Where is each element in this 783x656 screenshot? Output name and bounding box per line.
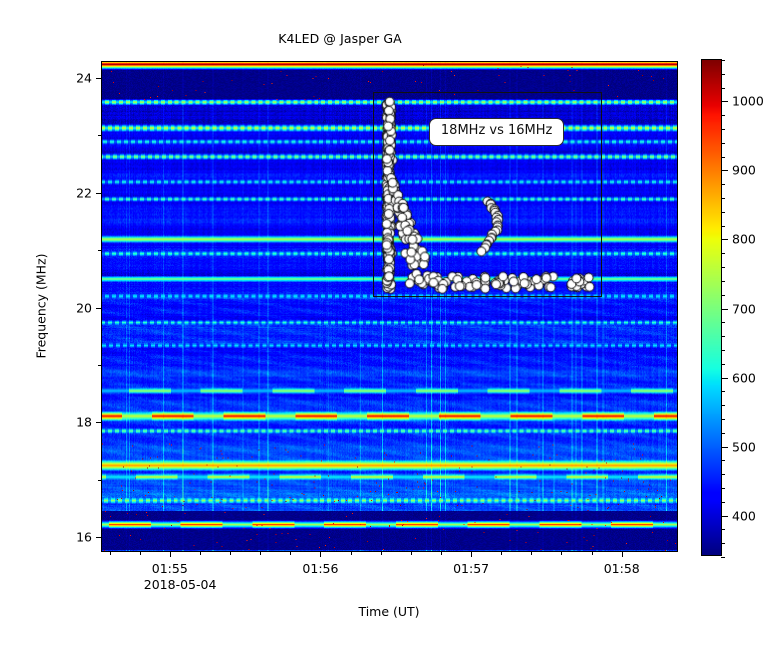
y-tick-minor (98, 480, 102, 481)
y-axis-label: Frequency (MHz) (34, 253, 49, 358)
x-tick-minor (230, 551, 231, 555)
x-tick-minor (411, 551, 412, 555)
colorbar-tick-minor (721, 460, 725, 461)
y-tick-label-24: 24 (76, 71, 92, 86)
colorbar-tick-600 (721, 378, 728, 379)
colorbar-tick-minor (721, 474, 725, 475)
x-tick-label-01:57: 01:57 (453, 561, 489, 576)
x-axis-date-label: 2018-05-04 (144, 577, 217, 592)
colorbar-tick-minor (721, 350, 725, 351)
colorbar-tick-label-400: 400 (732, 508, 756, 523)
colorbar-tick-minor (721, 322, 725, 323)
x-tick-minor (501, 551, 502, 555)
colorbar-tick-500 (721, 447, 728, 448)
colorbar-tick-minor (721, 74, 725, 75)
x-tick-label-01:55: 01:55 (152, 561, 188, 576)
colorbar-tick-label-600: 600 (732, 370, 756, 385)
colorbar-tick-800 (721, 239, 728, 240)
colorbar-tick-minor (721, 198, 725, 199)
y-tick-18 (96, 422, 102, 423)
x-tick-01:58 (622, 551, 623, 557)
colorbar-tick-label-800: 800 (732, 232, 756, 247)
colorbar-tick-label-500: 500 (732, 439, 756, 454)
colorbar-tick-minor (721, 226, 725, 227)
spectrogram-image (102, 62, 677, 551)
colorbar-gradient (702, 60, 721, 555)
colorbar-tick-minor (721, 502, 725, 503)
colorbar-tick-900 (721, 170, 728, 171)
colorbar-tick-minor (721, 267, 725, 268)
colorbar-tick-minor (721, 253, 725, 254)
colorbar-tick-minor (721, 157, 725, 158)
y-tick-label-16: 16 (76, 529, 92, 544)
colorbar-tick-minor (721, 88, 725, 89)
annotation-label: 18MHz vs 16MHz (429, 118, 564, 145)
colorbar-tick-minor (721, 129, 725, 130)
y-tick-label-20: 20 (76, 300, 92, 315)
y-tick-22 (96, 193, 102, 194)
x-tick-minor (200, 551, 201, 555)
colorbar-tick-minor (721, 391, 725, 392)
colorbar-tick-minor (721, 212, 725, 213)
colorbar-tick-minor (721, 488, 725, 489)
x-tick-minor (260, 551, 261, 555)
x-tick-01:55 (170, 551, 171, 557)
y-tick-label-18: 18 (76, 415, 92, 430)
colorbar-tick-minor (721, 115, 725, 116)
x-tick-minor (381, 551, 382, 555)
colorbar[interactable]: 4005006007008009001000 (701, 59, 722, 556)
y-tick-20 (96, 308, 102, 309)
x-tick-minor (290, 551, 291, 555)
x-tick-01:56 (320, 551, 321, 557)
colorbar-tick-400 (721, 516, 728, 517)
x-tick-label-01:56: 01:56 (302, 561, 338, 576)
y-tick-16 (96, 537, 102, 538)
colorbar-tick-minor (721, 543, 725, 544)
colorbar-tick-minor (721, 143, 725, 144)
x-tick-minor (592, 551, 593, 555)
colorbar-tick-minor (721, 364, 725, 365)
x-tick-minor (561, 551, 562, 555)
colorbar-tick-minor (721, 295, 725, 296)
main-plot-axes[interactable]: 18MHz vs 16MHz 161820222401:552018-05-04… (101, 61, 678, 552)
colorbar-tick-minor (721, 557, 725, 558)
colorbar-tick-minor (721, 529, 725, 530)
x-tick-minor (110, 551, 111, 555)
colorbar-tick-700 (721, 309, 728, 310)
y-tick-minor (98, 250, 102, 251)
page-title: K4LED @ Jasper GA (0, 31, 680, 46)
x-axis-label: Time (UT) (358, 604, 419, 619)
colorbar-tick-minor (721, 60, 725, 61)
colorbar-tick-label-700: 700 (732, 301, 756, 316)
x-tick-01:57 (471, 551, 472, 557)
y-tick-24 (96, 78, 102, 79)
colorbar-tick-minor (721, 336, 725, 337)
x-tick-minor (531, 551, 532, 555)
y-tick-minor (98, 135, 102, 136)
y-tick-label-22: 22 (76, 185, 92, 200)
colorbar-tick-label-900: 900 (732, 163, 756, 178)
spectrogram-figure: K4LED @ Jasper GA Frequency (MHz) Time (… (0, 0, 783, 656)
x-tick-minor (441, 551, 442, 555)
colorbar-tick-minor (721, 405, 725, 406)
x-tick-label-01:58: 01:58 (604, 561, 640, 576)
colorbar-tick-1000 (721, 101, 728, 102)
colorbar-tick-minor (721, 184, 725, 185)
y-tick-minor (98, 365, 102, 366)
x-tick-minor (351, 551, 352, 555)
x-tick-minor (140, 551, 141, 555)
colorbar-tick-minor (721, 281, 725, 282)
colorbar-tick-minor (721, 433, 725, 434)
colorbar-tick-label-1000: 1000 (732, 94, 764, 109)
colorbar-tick-minor (721, 419, 725, 420)
